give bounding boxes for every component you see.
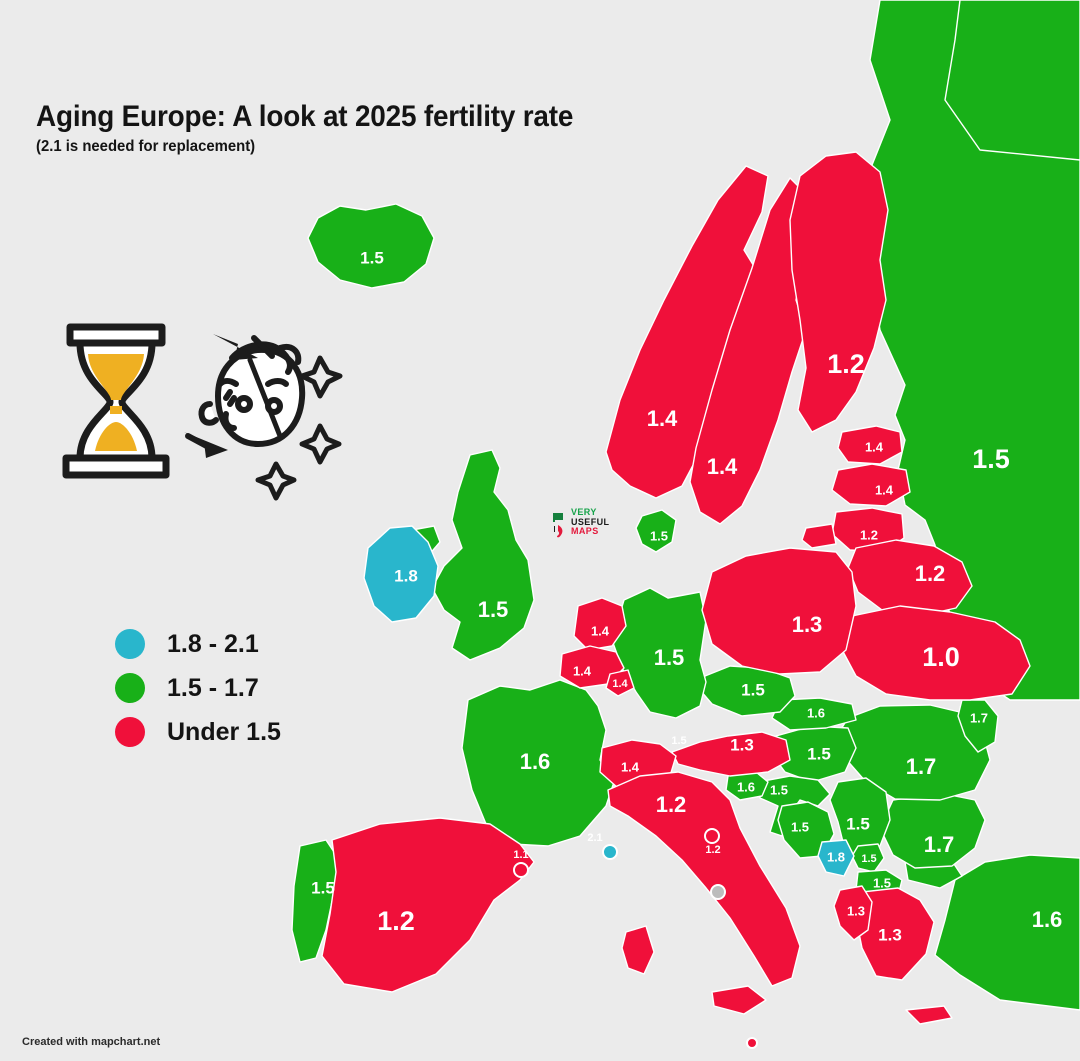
region-italy-sardinia: [622, 926, 654, 974]
region-greece-crete: [906, 1006, 952, 1024]
logo-mark-icon: [552, 510, 566, 544]
map-label-russia: 1.5: [972, 444, 1010, 474]
map-label-sanmarino: 1.2: [705, 844, 720, 856]
map-label-lithuania: 1.2: [860, 527, 878, 542]
region-malta-dot: [747, 1038, 757, 1048]
region-san-marino-dot[interactable]: [705, 829, 719, 843]
map-label-finland: 1.2: [827, 349, 865, 379]
legend-swatch-red: [115, 717, 145, 747]
legend-swatch-cyan: [115, 629, 145, 659]
europe-fertility-map: 1.51.81.51.41.41.21.51.41.41.21.21.51.01…: [0, 0, 1080, 1061]
footer-credit: Created with mapchart.net: [22, 1036, 160, 1048]
map-label-macedonia: 1.5: [873, 875, 891, 890]
title-block: Aging Europe: A look at 2025 fertility r…: [36, 100, 614, 156]
region-united-kingdom[interactable]: [432, 450, 534, 660]
map-label-austria: 1.3: [730, 735, 754, 754]
map-label-hungary: 1.5: [807, 744, 831, 763]
map-label-serbia: 1.5: [846, 814, 870, 833]
region-spain[interactable]: [322, 818, 534, 992]
map-label-latvia: 1.4: [875, 482, 894, 497]
map-label-iceland: 1.5: [360, 248, 384, 267]
map-label-ukraine: 1.0: [922, 642, 960, 672]
legend-item-green[interactable]: 1.5 - 1.7: [115, 666, 281, 710]
map-label-ireland: 1.8: [394, 566, 418, 585]
map-label-monaco: 2.1: [587, 832, 602, 844]
map-label-netherlands: 1.4: [591, 623, 610, 638]
map-label-czechia: 1.5: [741, 680, 765, 699]
map-label-luxembourg: 1.4: [612, 678, 628, 690]
map-label-france: 1.6: [520, 749, 551, 774]
region-kaliningrad: [802, 524, 836, 548]
map-label-slovakia: 1.6: [807, 705, 825, 720]
map-label-switzerland: 1.4: [621, 759, 640, 774]
map-label-belgium: 1.4: [573, 663, 592, 678]
map-label-greece: 1.3: [878, 925, 902, 944]
map-label-belarus: 1.2: [915, 561, 946, 586]
region-italy-sicily: [712, 986, 766, 1014]
map-landmasses: [292, 0, 1080, 1048]
legend-swatch-green: [115, 673, 145, 703]
region-poland[interactable]: [702, 548, 856, 674]
region-vatican-dot[interactable]: [711, 885, 725, 899]
map-label-germany: 1.5: [654, 645, 685, 670]
region-latvia[interactable]: [832, 464, 910, 506]
map-label-poland: 1.3: [792, 612, 823, 637]
map-label-uk: 1.5: [478, 597, 509, 622]
map-label-spain: 1.2: [377, 906, 415, 936]
map-label-bulgaria: 1.7: [924, 832, 955, 857]
region-finland[interactable]: [790, 152, 888, 432]
legend-item-red[interactable]: Under 1.5: [115, 710, 281, 754]
aging-illustration: [58, 318, 348, 518]
region-iceland[interactable]: [308, 204, 434, 288]
map-label-andorra: 1.1: [513, 849, 528, 861]
legend: 1.8 - 2.1 1.5 - 1.7 Under 1.5: [115, 622, 281, 754]
map-label-romania: 1.7: [906, 754, 937, 779]
map-label-sweden: 1.4: [707, 454, 738, 479]
page-subtitle: (2.1 is needed for replacement): [36, 138, 573, 156]
map-label-italy: 1.2: [656, 792, 687, 817]
map-label-kosovo: 1.5: [861, 853, 876, 865]
map-label-slovenia: 1.6: [737, 779, 755, 794]
region-monaco-dot[interactable]: [603, 845, 617, 859]
map-label-croatia: 1.5: [770, 782, 788, 797]
map-label-bosnia: 1.5: [791, 819, 809, 834]
legend-label-green: 1.5 - 1.7: [167, 674, 259, 703]
map-label-liechtenstein: 1.5: [671, 735, 686, 747]
map-label-turkey: 1.6: [1032, 907, 1063, 932]
map-label-montenegro: 1.8: [827, 849, 845, 864]
map-label-estonia: 1.4: [865, 439, 884, 454]
page-title: Aging Europe: A look at 2025 fertility r…: [36, 100, 573, 134]
hourglass-icon: [66, 327, 166, 475]
map-label-albania: 1.3: [847, 903, 865, 918]
region-andorra-dot[interactable]: [514, 863, 528, 877]
map-label-moldova: 1.7: [970, 710, 988, 725]
legend-label-red: Under 1.5: [167, 718, 281, 747]
map-label-norway: 1.4: [647, 406, 678, 431]
legend-item-cyan[interactable]: 1.8 - 2.1: [115, 622, 281, 666]
legend-label-cyan: 1.8 - 2.1: [167, 630, 259, 659]
logo-line-maps: MAPS: [571, 527, 609, 537]
map-label-denmark: 1.5: [650, 528, 668, 543]
infographic-canvas: 1.51.81.51.41.41.21.51.41.41.21.21.51.01…: [0, 0, 1080, 1061]
map-label-portugal: 1.5: [311, 878, 335, 897]
very-useful-maps-logo: VERY USEFUL MAPS: [552, 508, 626, 548]
